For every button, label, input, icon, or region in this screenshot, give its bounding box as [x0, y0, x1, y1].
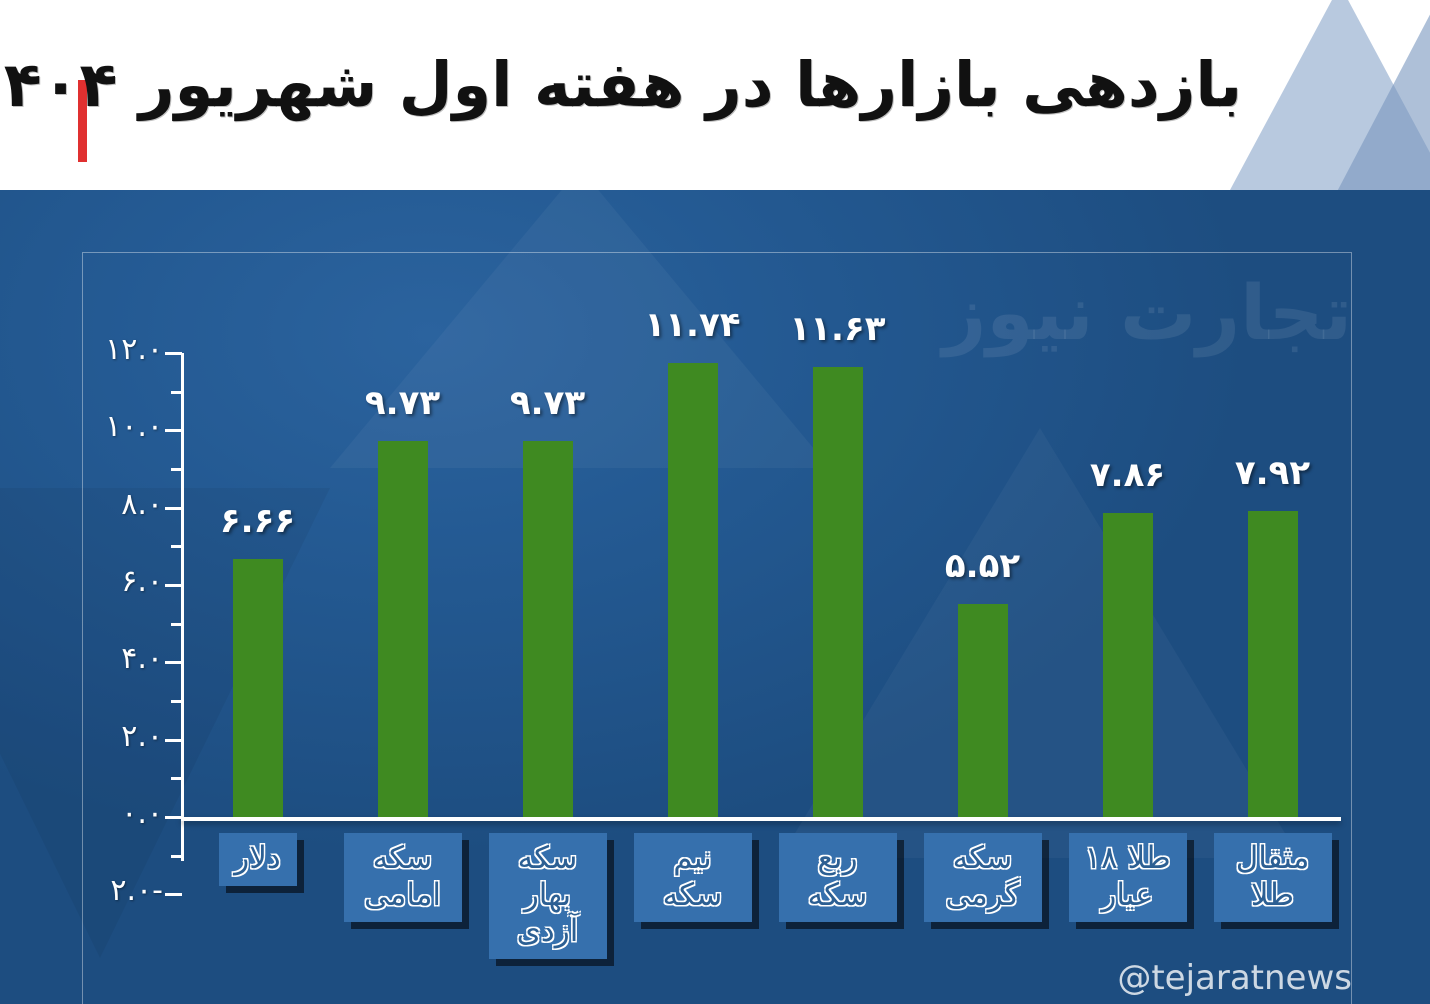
bar[interactable] — [523, 441, 573, 817]
bar-value-label: ۵.۵۲ — [893, 546, 1073, 586]
y-axis-minor-tick — [171, 468, 182, 471]
bar-value-label: ۷.۹۲ — [1183, 453, 1363, 493]
bar-value-label: ۱۱.۶۳ — [748, 309, 928, 349]
category-label-box[interactable]: نیم سکه — [634, 833, 752, 922]
bar[interactable] — [958, 604, 1008, 817]
y-axis-tick-label: ۰.۰ — [121, 796, 163, 831]
y-axis-tick-label: ۸.۰ — [121, 487, 163, 522]
y-axis-major-tick — [165, 352, 182, 355]
bar[interactable] — [668, 363, 718, 817]
y-axis-minor-tick — [171, 777, 182, 780]
y-axis-minor-tick — [171, 623, 182, 626]
bar[interactable] — [378, 441, 428, 817]
plot-frame: ۱۲.۰۱۰.۰۸.۰۶.۰۴.۰۲.۰۰.۰-۲.۰ ۶.۶۶۹.۷۳۹.۷۳… — [82, 252, 1352, 1004]
category-label-box[interactable]: طلا ۱۸ عیار — [1069, 833, 1187, 922]
bar[interactable] — [1248, 511, 1298, 817]
category-label-box[interactable]: مثقال طلا — [1214, 833, 1332, 922]
y-axis-major-tick — [165, 816, 182, 819]
y-axis-tick-label: ۱۰.۰ — [105, 409, 163, 444]
bar[interactable] — [813, 367, 863, 817]
category-label-box[interactable]: دلار — [219, 833, 297, 886]
y-axis-major-tick — [165, 661, 182, 664]
bar[interactable] — [233, 559, 283, 817]
bar-value-label: ۶.۶۶ — [168, 501, 348, 541]
y-axis-minor-tick — [171, 545, 182, 548]
poster-stage: بازدهی بازارها در هفته اول شهریور ۱۴۰۴ ت… — [0, 0, 1430, 1004]
y-axis-minor-tick — [171, 855, 182, 858]
decorative-triangle-right-icon — [1330, 5, 1430, 190]
y-axis-tick-label: ۴.۰ — [121, 641, 163, 676]
x-axis-baseline — [181, 817, 1341, 821]
bar-value-label: ۹.۷۳ — [458, 383, 638, 423]
y-axis-tick-label: ۶.۰ — [121, 564, 163, 599]
y-axis-tick-label: ۱۲.۰ — [105, 332, 163, 367]
category-label-box[interactable]: سکه گرمی — [924, 833, 1042, 922]
category-label-box[interactable]: سکه بهار آزدی — [489, 833, 607, 959]
y-axis-tick-label: ۲.۰ — [121, 719, 163, 754]
category-label-box[interactable]: ربع سکه — [779, 833, 897, 922]
y-axis-major-tick — [165, 429, 182, 432]
bar[interactable] — [1103, 513, 1153, 817]
category-label-box[interactable]: سکه امامی — [344, 833, 462, 922]
page-title: بازدهی بازارها در هفته اول شهریور ۱۴۰۴ — [150, 46, 1242, 124]
y-axis-minor-tick — [171, 700, 182, 703]
header-band: بازدهی بازارها در هفته اول شهریور ۱۴۰۴ — [0, 0, 1430, 190]
y-axis-major-tick — [165, 584, 182, 587]
y-axis-major-tick — [165, 739, 182, 742]
y-axis-major-tick — [165, 893, 182, 896]
y-axis-minor-tick — [171, 391, 182, 394]
y-axis-tick-label: -۲.۰ — [110, 873, 163, 908]
